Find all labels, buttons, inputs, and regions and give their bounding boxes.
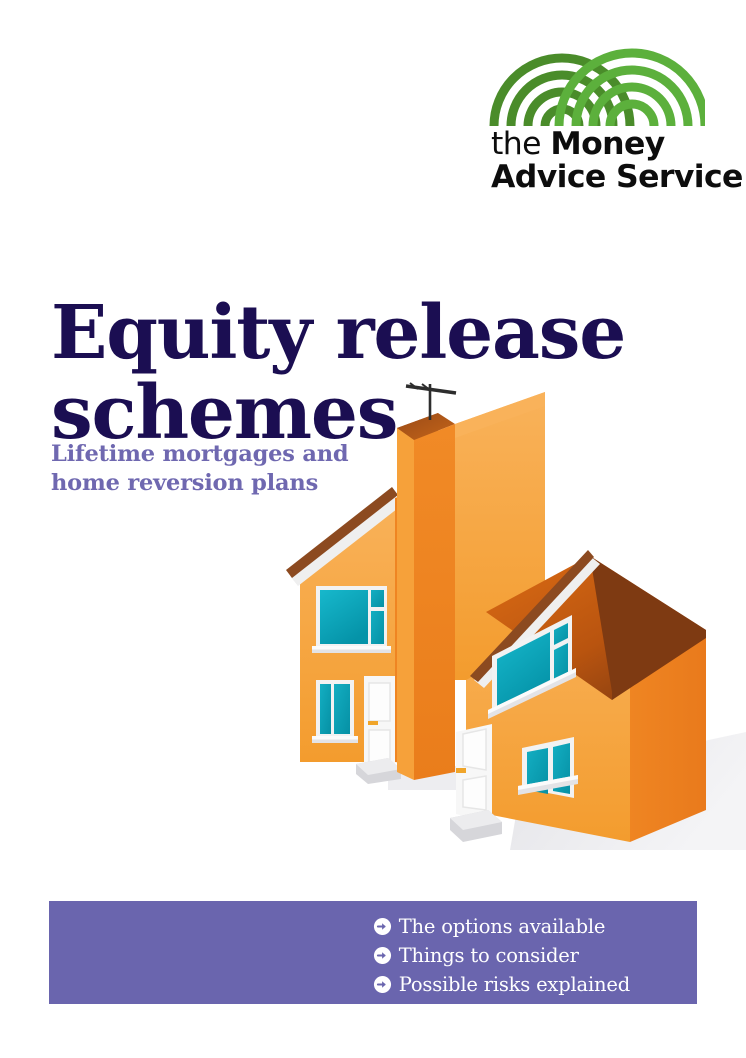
banner-item[interactable]: The options available (373, 912, 630, 941)
door-left (364, 676, 395, 768)
brand-logo: the Money Advice Service (489, 36, 705, 186)
tv-aerial-icon (406, 383, 456, 420)
window-left-lower (312, 680, 358, 743)
arrow-circle-right-icon (373, 975, 392, 994)
banner-item[interactable]: Possible risks explained (373, 970, 630, 999)
logo-text-money: Money (550, 126, 664, 162)
logo-text-advice-service: Advice Service (491, 161, 705, 194)
window-left-upper (312, 586, 391, 653)
cover-page: the Money Advice Service Equity release … (0, 0, 746, 1058)
banner-item-label: Possible risks explained (399, 973, 630, 996)
logo-wordmark: the Money Advice Service (491, 128, 705, 194)
page-title-line-1: Equity release (51, 293, 671, 373)
door-right (456, 724, 492, 822)
arrow-circle-right-icon (373, 946, 392, 965)
banner-item-label: The options available (399, 915, 606, 938)
house-illustration (260, 380, 746, 890)
arrow-circle-right-icon (373, 917, 392, 936)
logo-text-the: the (491, 126, 541, 162)
banner-item-label: Things to consider (399, 944, 579, 967)
bottom-banner: The options available Things to consider… (49, 901, 697, 1004)
banner-item[interactable]: Things to consider (373, 941, 630, 970)
banner-bullet-list: The options available Things to consider… (373, 912, 630, 999)
logo-arcs-icon (489, 36, 705, 126)
